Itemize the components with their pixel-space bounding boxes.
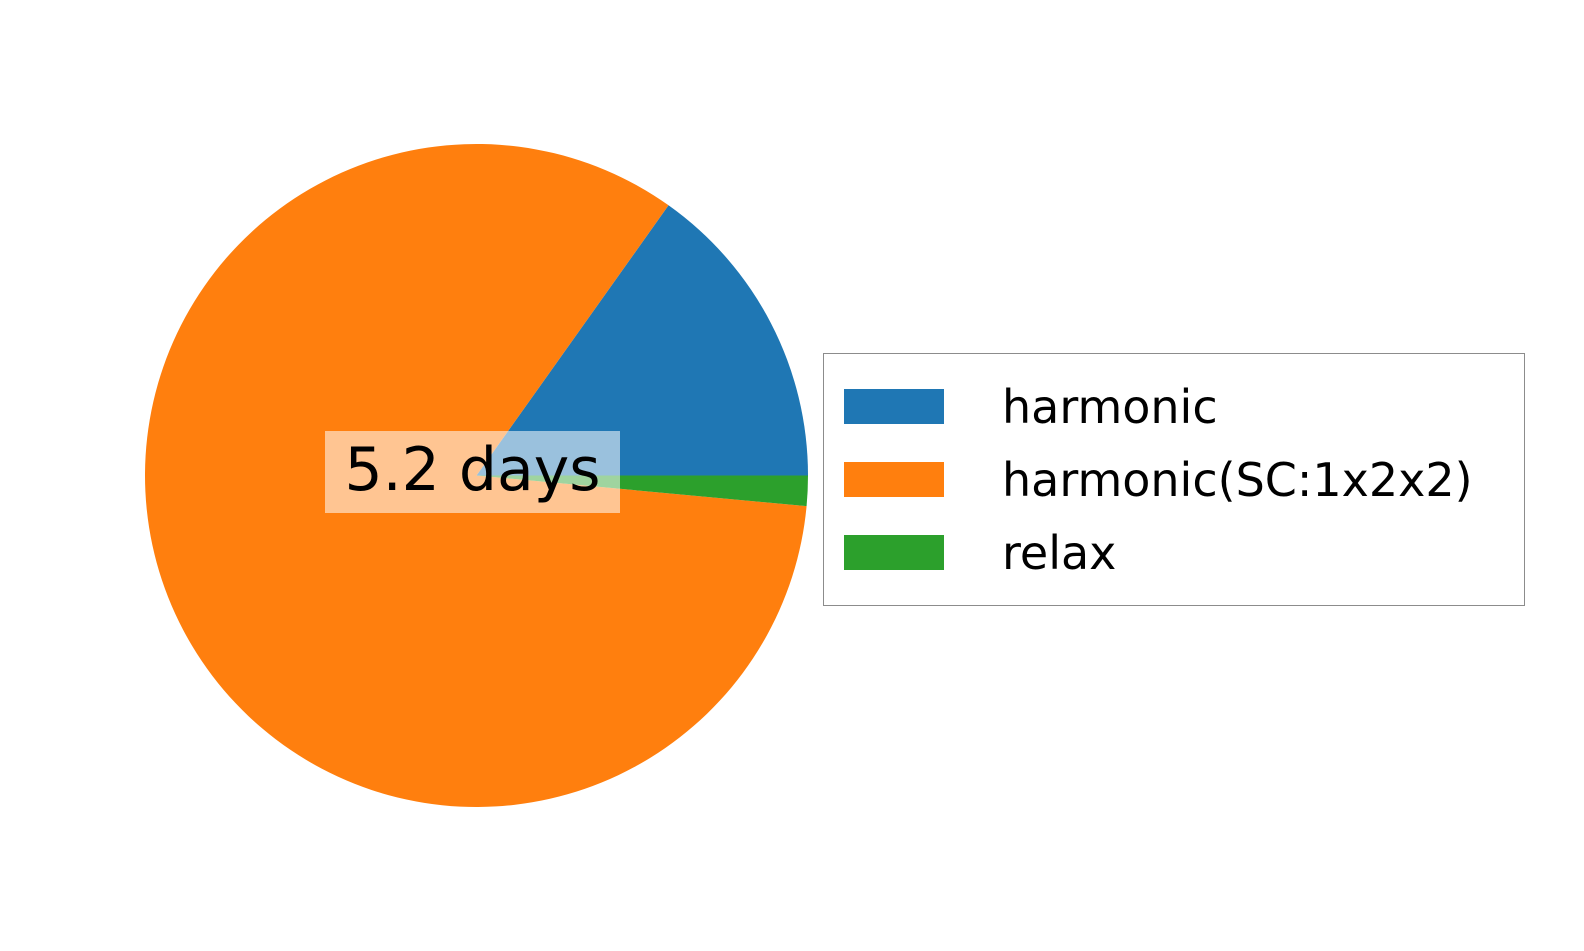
legend-label-relax: relax — [1002, 530, 1116, 576]
chart-legend: harmonic harmonic(SC:1x2x2) relax — [823, 353, 1525, 606]
legend-item-relax[interactable]: relax — [844, 516, 1502, 589]
legend-label-harmonic: harmonic — [1002, 384, 1218, 430]
pie-chart-figure: 5.2 days harmonic harmonic(SC:1x2x2) rel… — [0, 0, 1584, 951]
legend-swatch-harmonic-sc — [844, 462, 944, 497]
legend-label-harmonic-sc: harmonic(SC:1x2x2) — [1002, 457, 1473, 503]
legend-swatch-harmonic — [844, 389, 944, 424]
legend-swatch-relax — [844, 535, 944, 570]
pie-slice-group — [145, 144, 808, 807]
pie-chart — [145, 144, 808, 807]
legend-item-harmonic-sc[interactable]: harmonic(SC:1x2x2) — [844, 443, 1502, 516]
legend-item-harmonic[interactable]: harmonic — [844, 370, 1502, 443]
pie-svg — [145, 144, 808, 807]
